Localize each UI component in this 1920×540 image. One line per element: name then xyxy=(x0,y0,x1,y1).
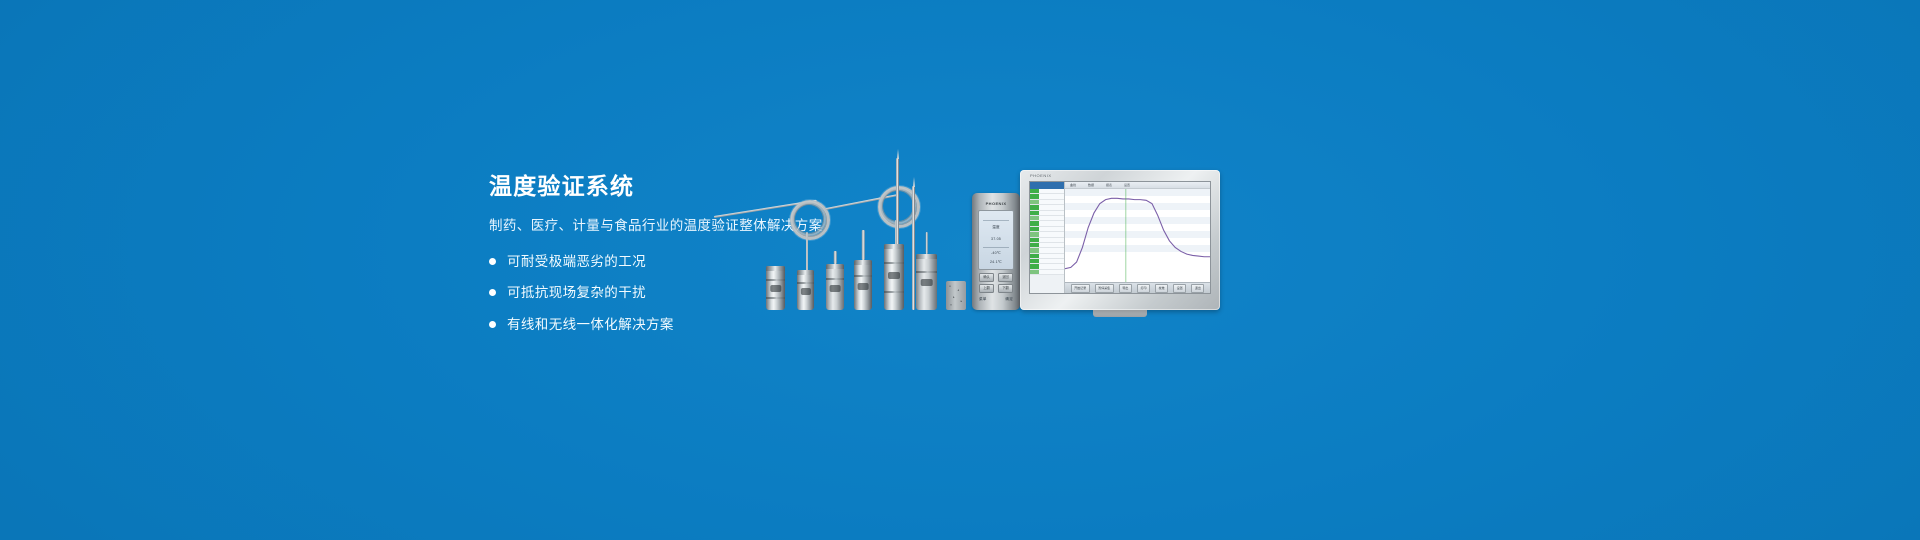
monitor-screen: 曲线 数据 报表 设置 xyxy=(1029,181,1211,294)
industrial-monitor: PHOENIX xyxy=(1020,170,1220,310)
bullet-dot-icon xyxy=(489,321,496,328)
exit-button[interactable]: 退出 xyxy=(1191,284,1204,293)
feature-label: 可耐受极端恶劣的工况 xyxy=(507,255,646,269)
data-logger xyxy=(797,270,814,310)
monitor-bezel: PHOENIX xyxy=(1020,170,1220,310)
feature-label: 有线和无线一体化解决方案 xyxy=(507,318,674,332)
monitor-main-panel: 曲线 数据 报表 设置 xyxy=(1065,182,1210,293)
list-item: 有线和无线一体化解决方案 xyxy=(489,318,919,332)
chart-svg xyxy=(1065,189,1210,282)
handheld-key-down[interactable]: 下翻 xyxy=(998,284,1013,293)
data-logger xyxy=(916,254,937,310)
data-logger xyxy=(884,244,904,310)
print-button[interactable]: 打印 xyxy=(1137,284,1150,293)
hero-banner: 温度验证系统 制药、医疗、计量与食品行业的温度验证整体解决方案 可耐受极端恶劣的… xyxy=(0,0,1920,540)
temperature-chart xyxy=(1065,189,1210,282)
handheld-keypad[interactable]: 确认 返回 上翻 下翻 菜单 确定 xyxy=(977,273,1015,303)
handheld-key-up[interactable]: 上翻 xyxy=(979,284,994,293)
monitor-brand-label: PHOENIX xyxy=(1030,173,1052,178)
handheld-key-back[interactable]: 返回 xyxy=(998,273,1013,282)
export-button[interactable]: 导出 xyxy=(1119,284,1132,293)
handheld-reading-min: -40℃ xyxy=(979,251,1013,255)
handheld-reading-label: 温度 xyxy=(979,225,1013,230)
handheld-brand-label: PHOENIX xyxy=(972,201,1020,206)
data-logger xyxy=(854,260,872,310)
channel-sidebar[interactable] xyxy=(1030,182,1065,293)
data-logger xyxy=(766,266,785,310)
tab-settings[interactable]: 设置 xyxy=(1124,183,1130,187)
handheld-key-confirm[interactable]: 确认 xyxy=(979,273,994,282)
data-logger xyxy=(826,264,844,310)
channel-sidebar-header xyxy=(1030,182,1064,189)
tab-report[interactable]: 报表 xyxy=(1106,183,1112,187)
handheld-reading-max: 24.1℃ xyxy=(979,260,1013,264)
porous-sensor xyxy=(946,281,966,310)
bullet-dot-icon xyxy=(489,289,496,296)
calibrate-button[interactable]: 校准 xyxy=(1155,284,1168,293)
product-photo-group: PHOENIX 温度 37.05 -40℃ 24.1℃ 确认 返回 上翻 下翻 … xyxy=(700,120,1220,310)
monitor-toolbar[interactable]: 曲线 数据 报表 设置 xyxy=(1065,182,1210,189)
start-record-button[interactable]: 开始记录 xyxy=(1071,284,1090,293)
handheld-reader[interactable]: PHOENIX 温度 37.05 -40℃ 24.1℃ 确认 返回 上翻 下翻 … xyxy=(972,193,1020,310)
feature-label: 可抵抗现场复杂的干扰 xyxy=(507,286,646,300)
needle-probe-short xyxy=(912,186,915,310)
monitor-stand xyxy=(1093,310,1147,317)
settings-button[interactable]: 设置 xyxy=(1173,284,1186,293)
handheld-screen: 温度 37.05 -40℃ 24.1℃ xyxy=(978,210,1014,270)
handheld-footer-right: 确定 xyxy=(977,297,1013,302)
tab-curve[interactable]: 曲线 xyxy=(1070,183,1076,187)
table-row[interactable] xyxy=(1030,270,1064,275)
handheld-reading-value: 37.05 xyxy=(979,237,1013,241)
bullet-dot-icon xyxy=(489,258,496,265)
pause-button[interactable]: 暂停采集 xyxy=(1095,284,1114,293)
coil-probe-large xyxy=(714,198,844,276)
monitor-button-bar[interactable]: 开始记录 暂停采集 导出 打印 校准 设置 退出 xyxy=(1065,282,1210,293)
tab-data[interactable]: 数据 xyxy=(1088,183,1094,187)
